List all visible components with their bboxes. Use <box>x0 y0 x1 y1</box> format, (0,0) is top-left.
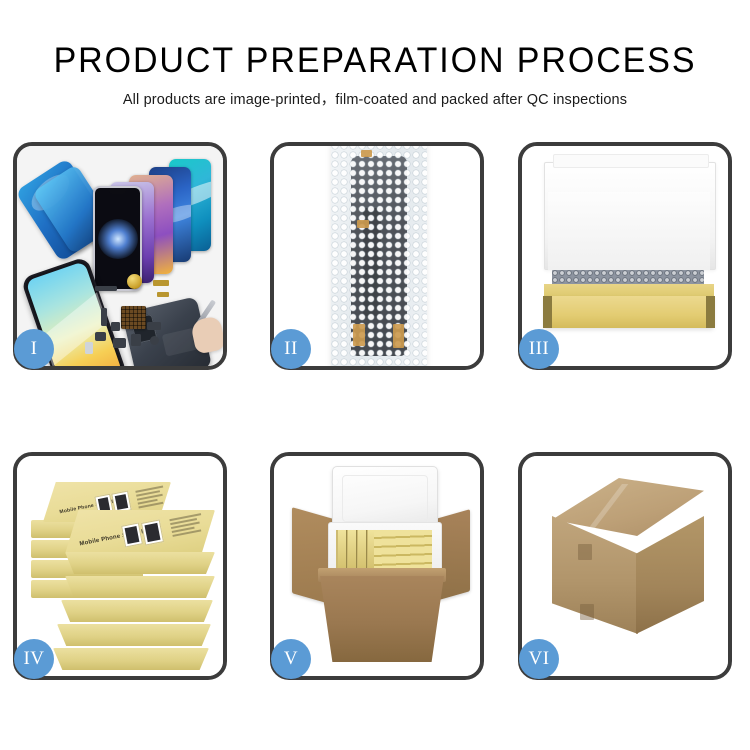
phone-screen-fan <box>95 158 223 276</box>
step-badge-6: VI <box>519 639 559 679</box>
bubble-texture-icon <box>331 146 427 366</box>
step-2-image <box>274 146 480 366</box>
step-badge-2: II <box>271 329 311 369</box>
tape-piece-4-icon <box>393 324 404 348</box>
product-preparation-infographic: PRODUCT PREPARATION PROCESS All products… <box>0 0 750 750</box>
step-6-image <box>522 456 728 676</box>
tape-piece-3-icon <box>353 324 365 346</box>
step-4-image: Mobile Phone Spare Parts Mobile Phone Sp… <box>17 456 223 676</box>
step-panel-5[interactable]: V <box>270 452 484 680</box>
carton-right-face-icon <box>636 516 704 634</box>
flex-cable-1-icon <box>153 280 169 286</box>
small-part-7-icon <box>150 336 159 345</box>
tape-piece-1-icon <box>361 150 372 157</box>
step-badge-5: V <box>271 639 311 679</box>
stacked-box-f1 <box>65 552 215 574</box>
stacked-box-f3 <box>61 600 213 622</box>
step-panel-6[interactable]: VI <box>518 452 732 680</box>
small-part-5-icon <box>131 334 141 346</box>
step-3-image <box>522 146 728 366</box>
step-panel-1[interactable]: I <box>13 142 227 370</box>
small-part-4-icon <box>113 338 126 348</box>
small-part-6-icon <box>147 322 161 330</box>
stacked-box-f2 <box>65 576 215 598</box>
step-panel-4[interactable]: Mobile Phone Spare Parts Mobile Phone Sp… <box>13 452 227 680</box>
kraft-box-front-icon <box>544 296 714 328</box>
carton-body-icon <box>320 576 444 662</box>
stacked-box-top-2: Mobile Phone Spare Parts <box>65 510 215 554</box>
small-part-1-icon <box>101 308 107 326</box>
step-panel-2[interactable]: II <box>270 142 484 370</box>
flex-cable-2-icon <box>157 292 169 297</box>
tape-piece-2-icon <box>357 220 369 228</box>
box-label-lines-2 <box>169 513 204 539</box>
step-badge-4: IV <box>14 639 54 679</box>
small-part-3-icon <box>95 332 106 341</box>
carton-tape-bottom-icon <box>580 604 594 620</box>
carton-tape-top-icon <box>578 544 592 560</box>
box-label-lines-1 <box>135 486 166 511</box>
bubble-wrap-pouch-icon <box>331 146 427 366</box>
step-badge-3: III <box>519 329 559 369</box>
small-part-2-icon <box>111 322 120 331</box>
foam-sheet-icon <box>548 192 710 270</box>
step-badge-1: I <box>14 329 54 369</box>
process-step-grid: I II <box>0 0 750 750</box>
speaker-module-icon <box>127 274 142 289</box>
box-stack: Mobile Phone Spare Parts Mobile Phone Sp… <box>31 474 223 670</box>
connector-strip-icon <box>95 286 117 291</box>
sim-tray-icon <box>85 342 93 354</box>
stacked-box-f5 <box>53 648 209 670</box>
box-label-phone-2b <box>141 519 164 545</box>
step-panel-3[interactable]: III <box>518 142 732 370</box>
step-1-image <box>17 146 223 366</box>
step-5-image <box>274 456 480 676</box>
stacked-box-f4 <box>57 624 211 646</box>
ic-chip-icon <box>121 306 146 329</box>
box-label-phone-2a <box>121 522 143 547</box>
